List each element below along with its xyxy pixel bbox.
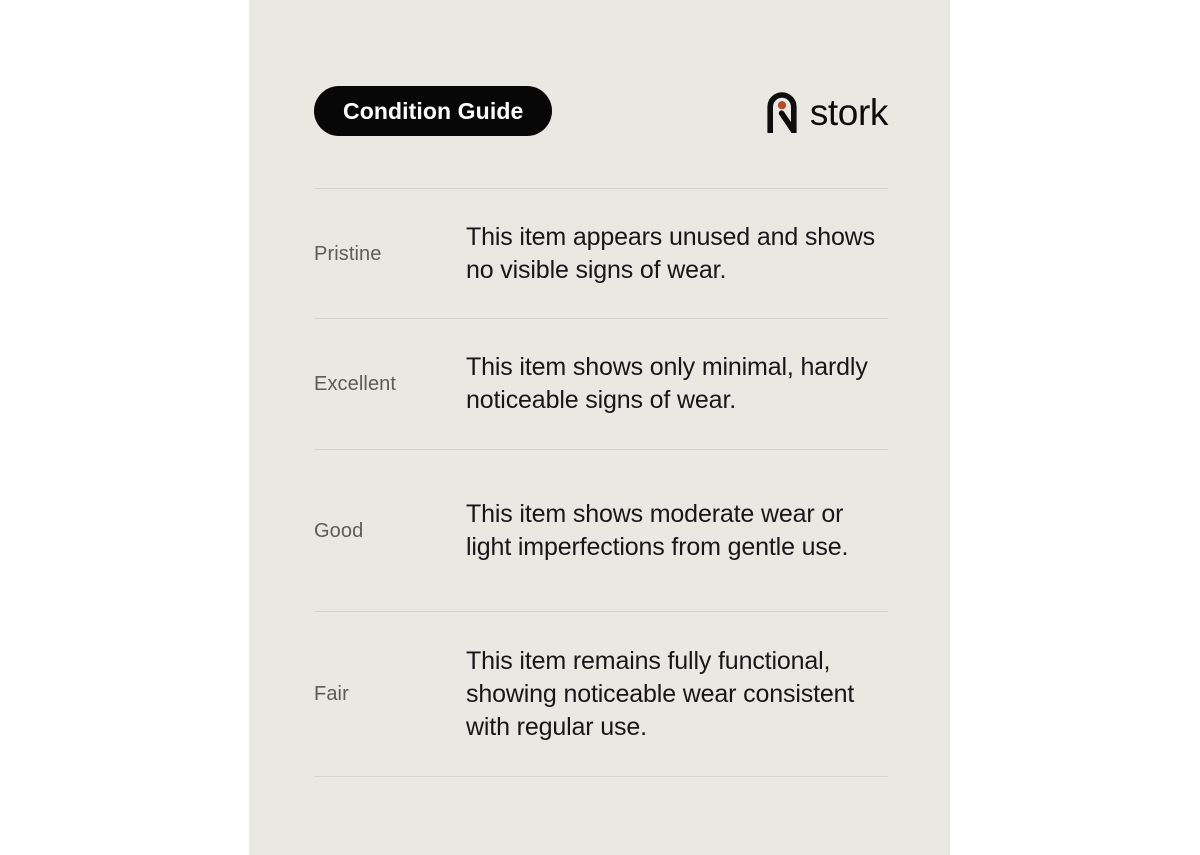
table-row: Good This item shows moderate wear or li… — [314, 450, 888, 611]
condition-label-good: Good — [314, 519, 466, 543]
condition-label-excellent: Excellent — [314, 372, 466, 396]
brand-wordmark: stork — [810, 94, 888, 131]
table-row: Excellent This item shows only minimal, … — [314, 319, 888, 449]
condition-description-pristine: This item appears unused and shows no vi… — [466, 221, 888, 287]
brand-lockup: stork — [765, 86, 888, 136]
condition-label-pristine: Pristine — [314, 242, 466, 266]
page-root: Condition Guide stork Pristine This item… — [0, 0, 1200, 855]
table-row: Fair This item remains fully functional,… — [314, 612, 888, 776]
condition-description-fair: This item remains fully functional, show… — [466, 645, 888, 744]
divider-bottom — [314, 776, 888, 777]
table-row: Pristine This item appears unused and sh… — [314, 189, 888, 318]
condition-guide-table: Pristine This item appears unused and sh… — [314, 188, 888, 777]
condition-description-good: This item shows moderate wear or light i… — [466, 498, 888, 564]
condition-guide-title-pill[interactable]: Condition Guide — [314, 86, 552, 136]
card-header: Condition Guide stork — [314, 86, 888, 136]
condition-description-excellent: This item shows only minimal, hardly not… — [466, 351, 888, 417]
condition-guide-card: Condition Guide stork Pristine This item… — [249, 0, 950, 855]
condition-label-fair: Fair — [314, 682, 466, 706]
stork-arch-logo-icon — [765, 90, 799, 133]
